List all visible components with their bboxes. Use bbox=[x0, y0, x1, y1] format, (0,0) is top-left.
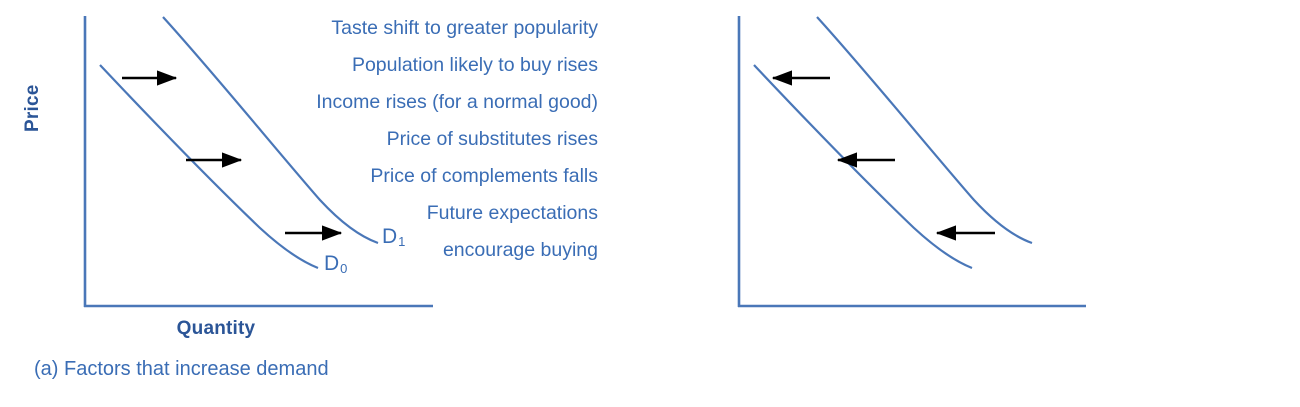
y-axis-title: Price bbox=[22, 85, 44, 132]
demand-curve-d1 bbox=[754, 65, 972, 268]
factor-line-expectations-text: encourage buying bbox=[443, 239, 598, 261]
curve-label-d0-sub: 0 bbox=[339, 261, 347, 276]
factor-line-population: Population likely to buy rises bbox=[120, 47, 598, 84]
curve-label-d1: D1 bbox=[382, 225, 405, 249]
panel-a-increase-demand: Price Quantity Taste shift to greater po… bbox=[0, 0, 650, 407]
curve-label-d0: D0 bbox=[324, 252, 347, 276]
panel-b-decrease-demand: Price Quantity Taste shift to lesser pop… bbox=[650, 0, 1300, 407]
factor-list: Taste shift to greater popularity Popula… bbox=[120, 10, 598, 269]
factor-line-income: Income rises (for a normal good) bbox=[120, 84, 598, 121]
x-axis-title: Quantity bbox=[0, 318, 432, 340]
factor-line-expectations-cont: encourage buying bbox=[120, 232, 598, 269]
panel-b-plot bbox=[650, 0, 1300, 407]
axis-lines bbox=[738, 16, 1086, 307]
factor-line-expectations: Future expectations bbox=[120, 195, 598, 232]
curve-label-d1-letter: D bbox=[382, 225, 397, 248]
demand-shift-figure: Price Quantity Taste shift to greater po… bbox=[0, 0, 1300, 407]
curve-label-d1-sub: 1 bbox=[397, 234, 405, 249]
factor-line-taste: Taste shift to greater popularity bbox=[120, 10, 598, 47]
panel-a-caption: (a) Factors that increase demand bbox=[34, 358, 329, 381]
factor-line-complements: Price of complements falls bbox=[120, 158, 598, 195]
curve-label-d0-letter: D bbox=[324, 252, 339, 275]
factor-line-substitutes: Price of substitutes rises bbox=[120, 121, 598, 158]
demand-curve-d0 bbox=[817, 17, 1032, 243]
